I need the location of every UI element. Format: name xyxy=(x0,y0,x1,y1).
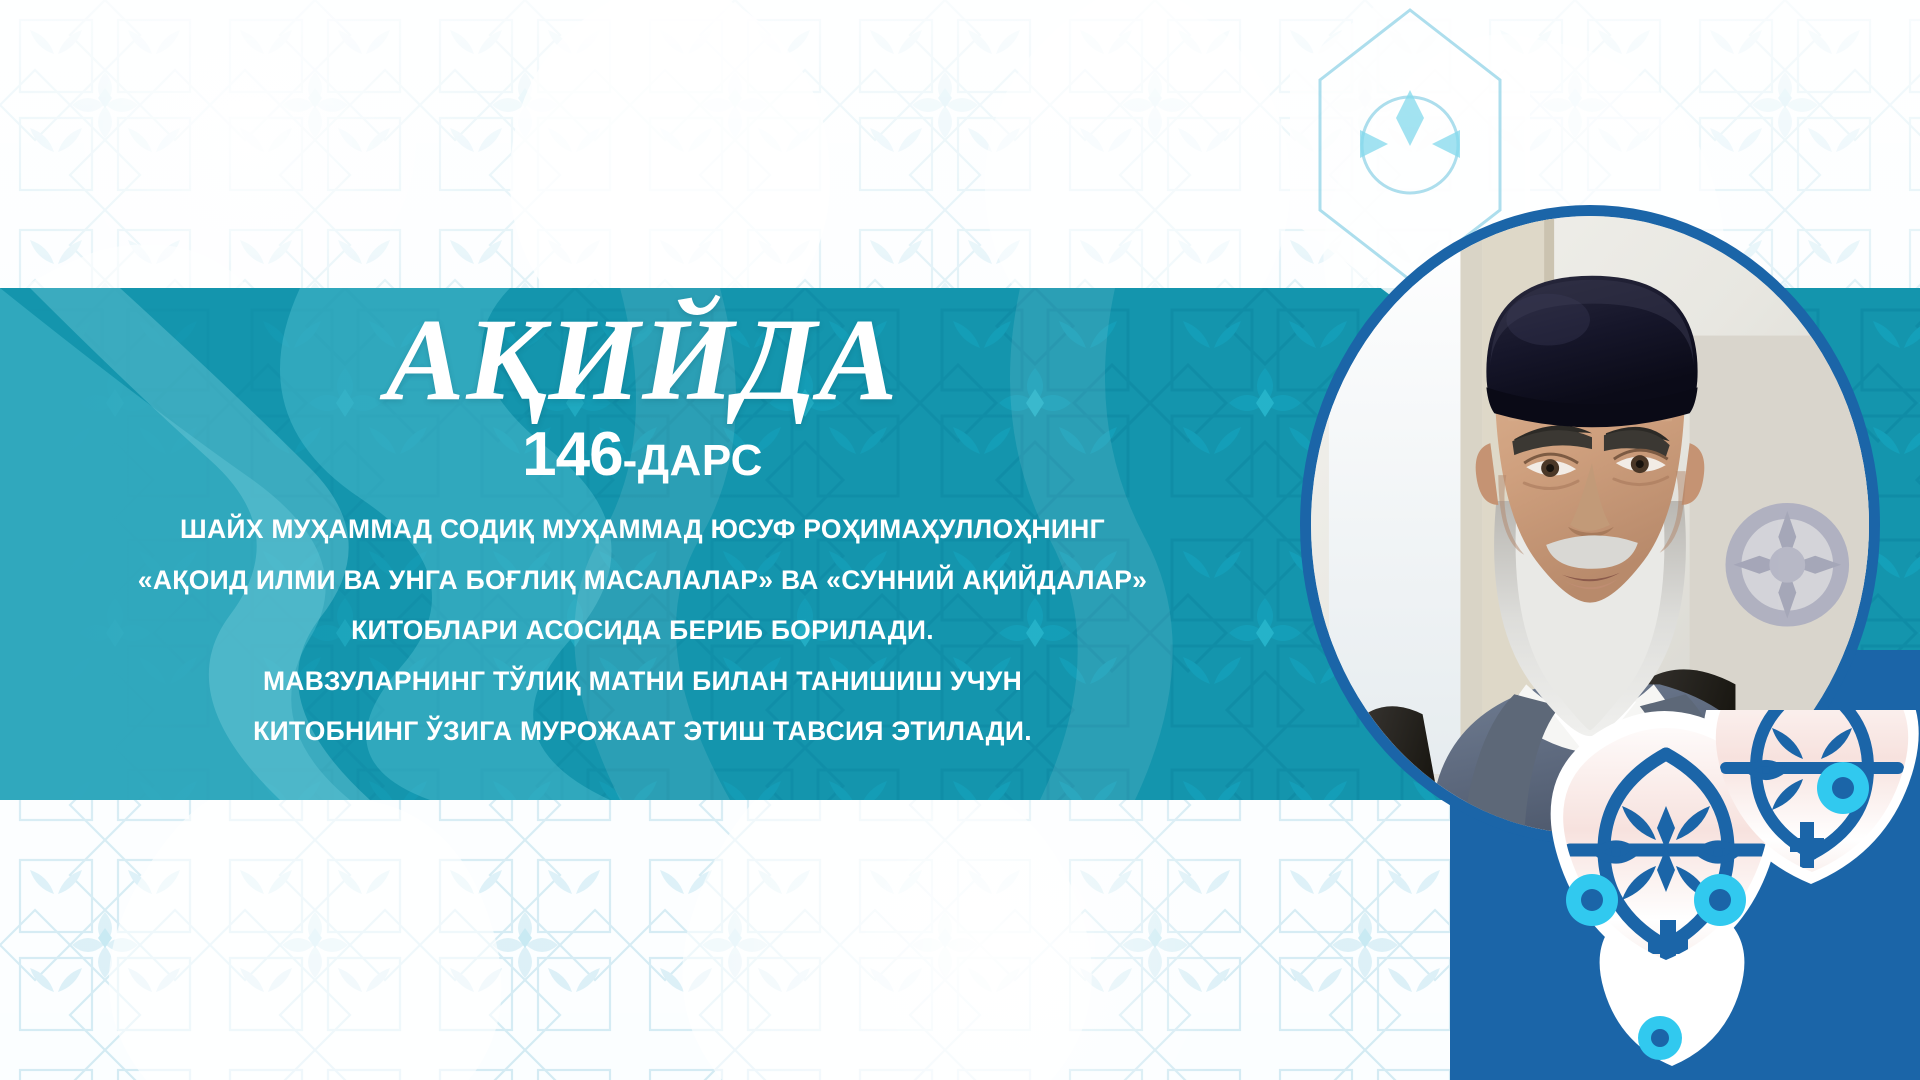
description-line: «АҚОИД ИЛМИ ВА УНГА БОҒЛИҚ МАСАЛАЛАР» ВА… xyxy=(0,567,1285,594)
banner-text-column: АҚИЙДА 146-ДАРС ШАЙХ МУҲАММАД СОДИҚ МУҲА… xyxy=(0,300,1285,745)
description-line: ШАЙХ МУҲАММАД СОДИҚ МУҲАММАД ЮСУФ РОҲИМА… xyxy=(0,516,1285,543)
description-line: КИТОБНИНГ ЎЗИГА МУРОЖААТ ЭТИШ ТАВСИЯ ЭТИ… xyxy=(0,718,1285,745)
banner-stage: АҚИЙДА 146-ДАРС ШАЙХ МУҲАММАД СОДИҚ МУҲА… xyxy=(0,0,1920,1080)
lesson-number-line: 146-ДАРС xyxy=(0,424,1285,486)
page-title: АҚИЙДА xyxy=(0,300,1285,420)
bottom-right-tile-ornament xyxy=(1510,710,1920,1080)
lesson-number: 146 xyxy=(522,420,622,489)
description-line: КИТОБЛАРИ АСОСИДА БЕРИБ БОРИЛАДИ. xyxy=(0,617,1285,644)
lesson-word: -ДАРС xyxy=(623,436,763,485)
description-line: МАВЗУЛАРНИНГ ТЎЛИҚ МАТНИ БИЛАН ТАНИШИШ У… xyxy=(0,668,1285,695)
description-block: ШАЙХ МУҲАММАД СОДИҚ МУҲАММАД ЮСУФ РОҲИМА… xyxy=(0,516,1285,745)
